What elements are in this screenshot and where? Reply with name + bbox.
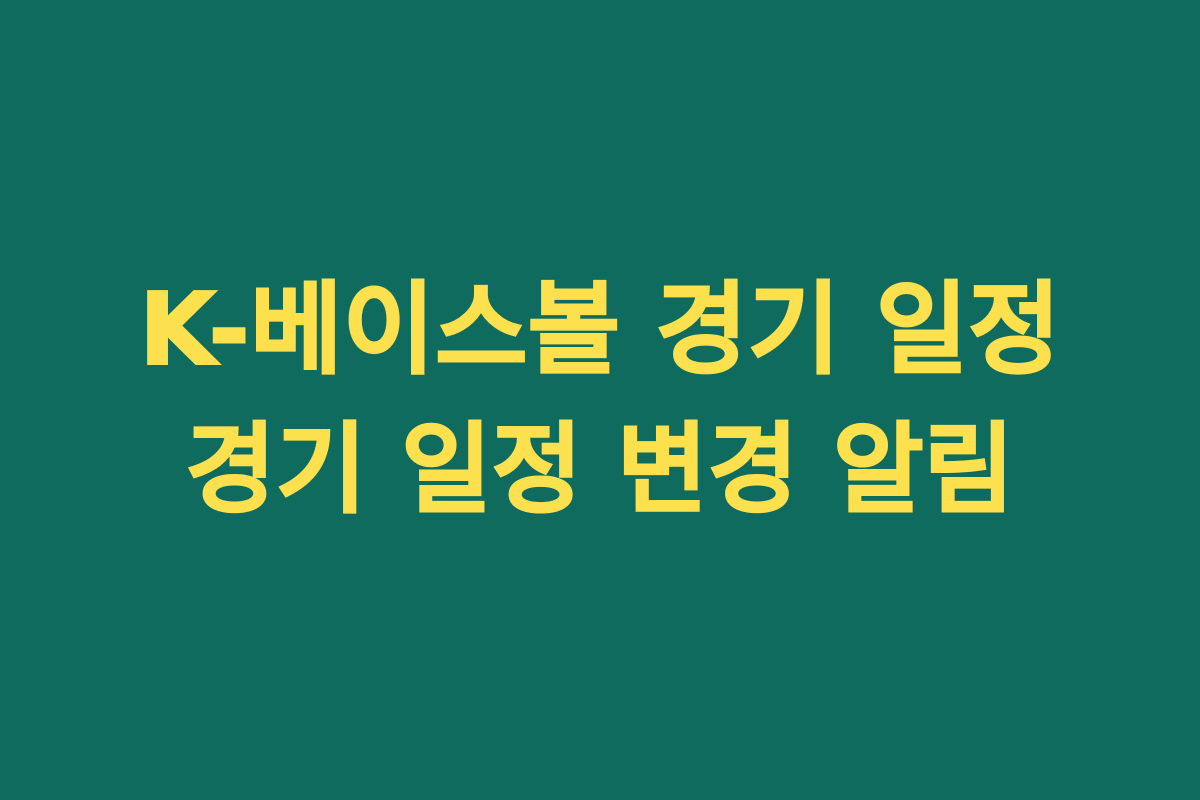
- headline-line-subtitle: 경기 일정 변경 알림: [185, 400, 1014, 540]
- headline-line-title: K-베이스볼 경기 일정: [139, 260, 1061, 400]
- headline-block: K-베이스볼 경기 일정 경기 일정 변경 알림: [0, 260, 1200, 540]
- banner: K-베이스볼 경기 일정 경기 일정 변경 알림: [0, 0, 1200, 800]
